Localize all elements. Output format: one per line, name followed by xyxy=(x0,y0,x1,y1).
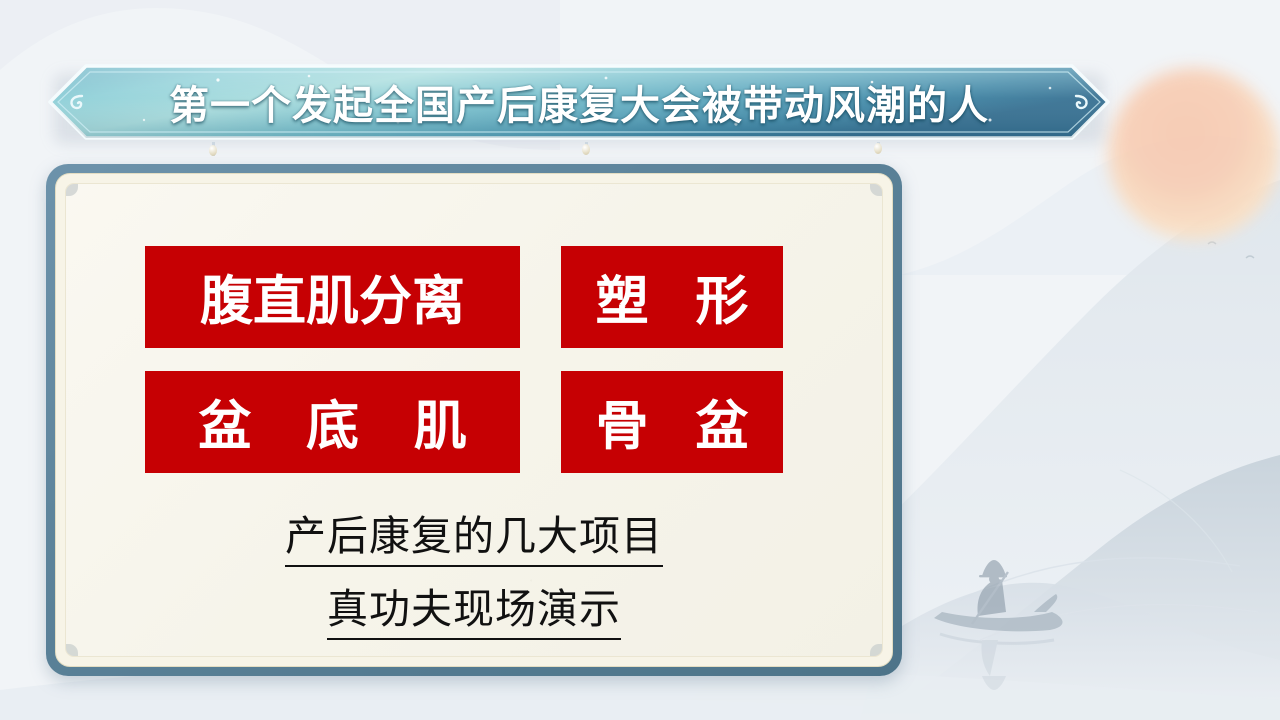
title-banner: 第一个发起全国产后康复大会被带动风潮的人 xyxy=(46,62,1112,142)
keyword-box-pelvis[interactable]: 骨 盆 xyxy=(561,371,783,473)
keyword-box-body-shaping[interactable]: 塑 形 xyxy=(561,246,783,348)
content-panel-inner-frame: 腹直肌分离 塑 形 盆 底 肌 骨 盆 产后康复的几大项目 真功夫现场演示 xyxy=(55,173,893,667)
tassel-bead xyxy=(209,145,217,156)
keyword-box-row-1: 腹直肌分离 塑 形 xyxy=(145,246,783,348)
keyword-box-diastasis-recti[interactable]: 腹直肌分离 xyxy=(145,246,520,348)
caption-line-2: 真功夫现场演示 xyxy=(327,582,621,640)
content-panel: 腹直肌分离 塑 形 盆 底 肌 骨 盆 产后康复的几大项目 真功夫现场演示 xyxy=(46,164,902,676)
sun-icon xyxy=(1108,68,1280,240)
keyword-box-grid: 腹直肌分离 塑 形 盆 底 肌 骨 盆 xyxy=(145,246,783,496)
corner-ornament-top-left xyxy=(65,183,78,196)
caption-group: 产后康复的几大项目 真功夫现场演示 xyxy=(66,509,882,640)
page-title: 第一个发起全国产后康复大会被带动风潮的人 xyxy=(46,62,1112,142)
corner-ornament-top-right xyxy=(870,183,883,196)
tassel-bead xyxy=(874,143,882,154)
corner-ornament-bottom-right xyxy=(870,644,883,657)
slide-stage: 第一个发起全国产后康复大会被带动风潮的人 腹直肌分离 塑 形 xyxy=(0,0,1280,720)
caption-line-1: 产后康复的几大项目 xyxy=(285,509,663,567)
content-panel-paper: 腹直肌分离 塑 形 盆 底 肌 骨 盆 产后康复的几大项目 真功夫现场演示 xyxy=(65,183,883,657)
keyword-box-row-2: 盆 底 肌 骨 盆 xyxy=(145,371,783,473)
corner-ornament-bottom-left xyxy=(65,644,78,657)
tassel-bead xyxy=(582,144,590,155)
keyword-box-pelvic-floor-muscle[interactable]: 盆 底 肌 xyxy=(145,371,520,473)
